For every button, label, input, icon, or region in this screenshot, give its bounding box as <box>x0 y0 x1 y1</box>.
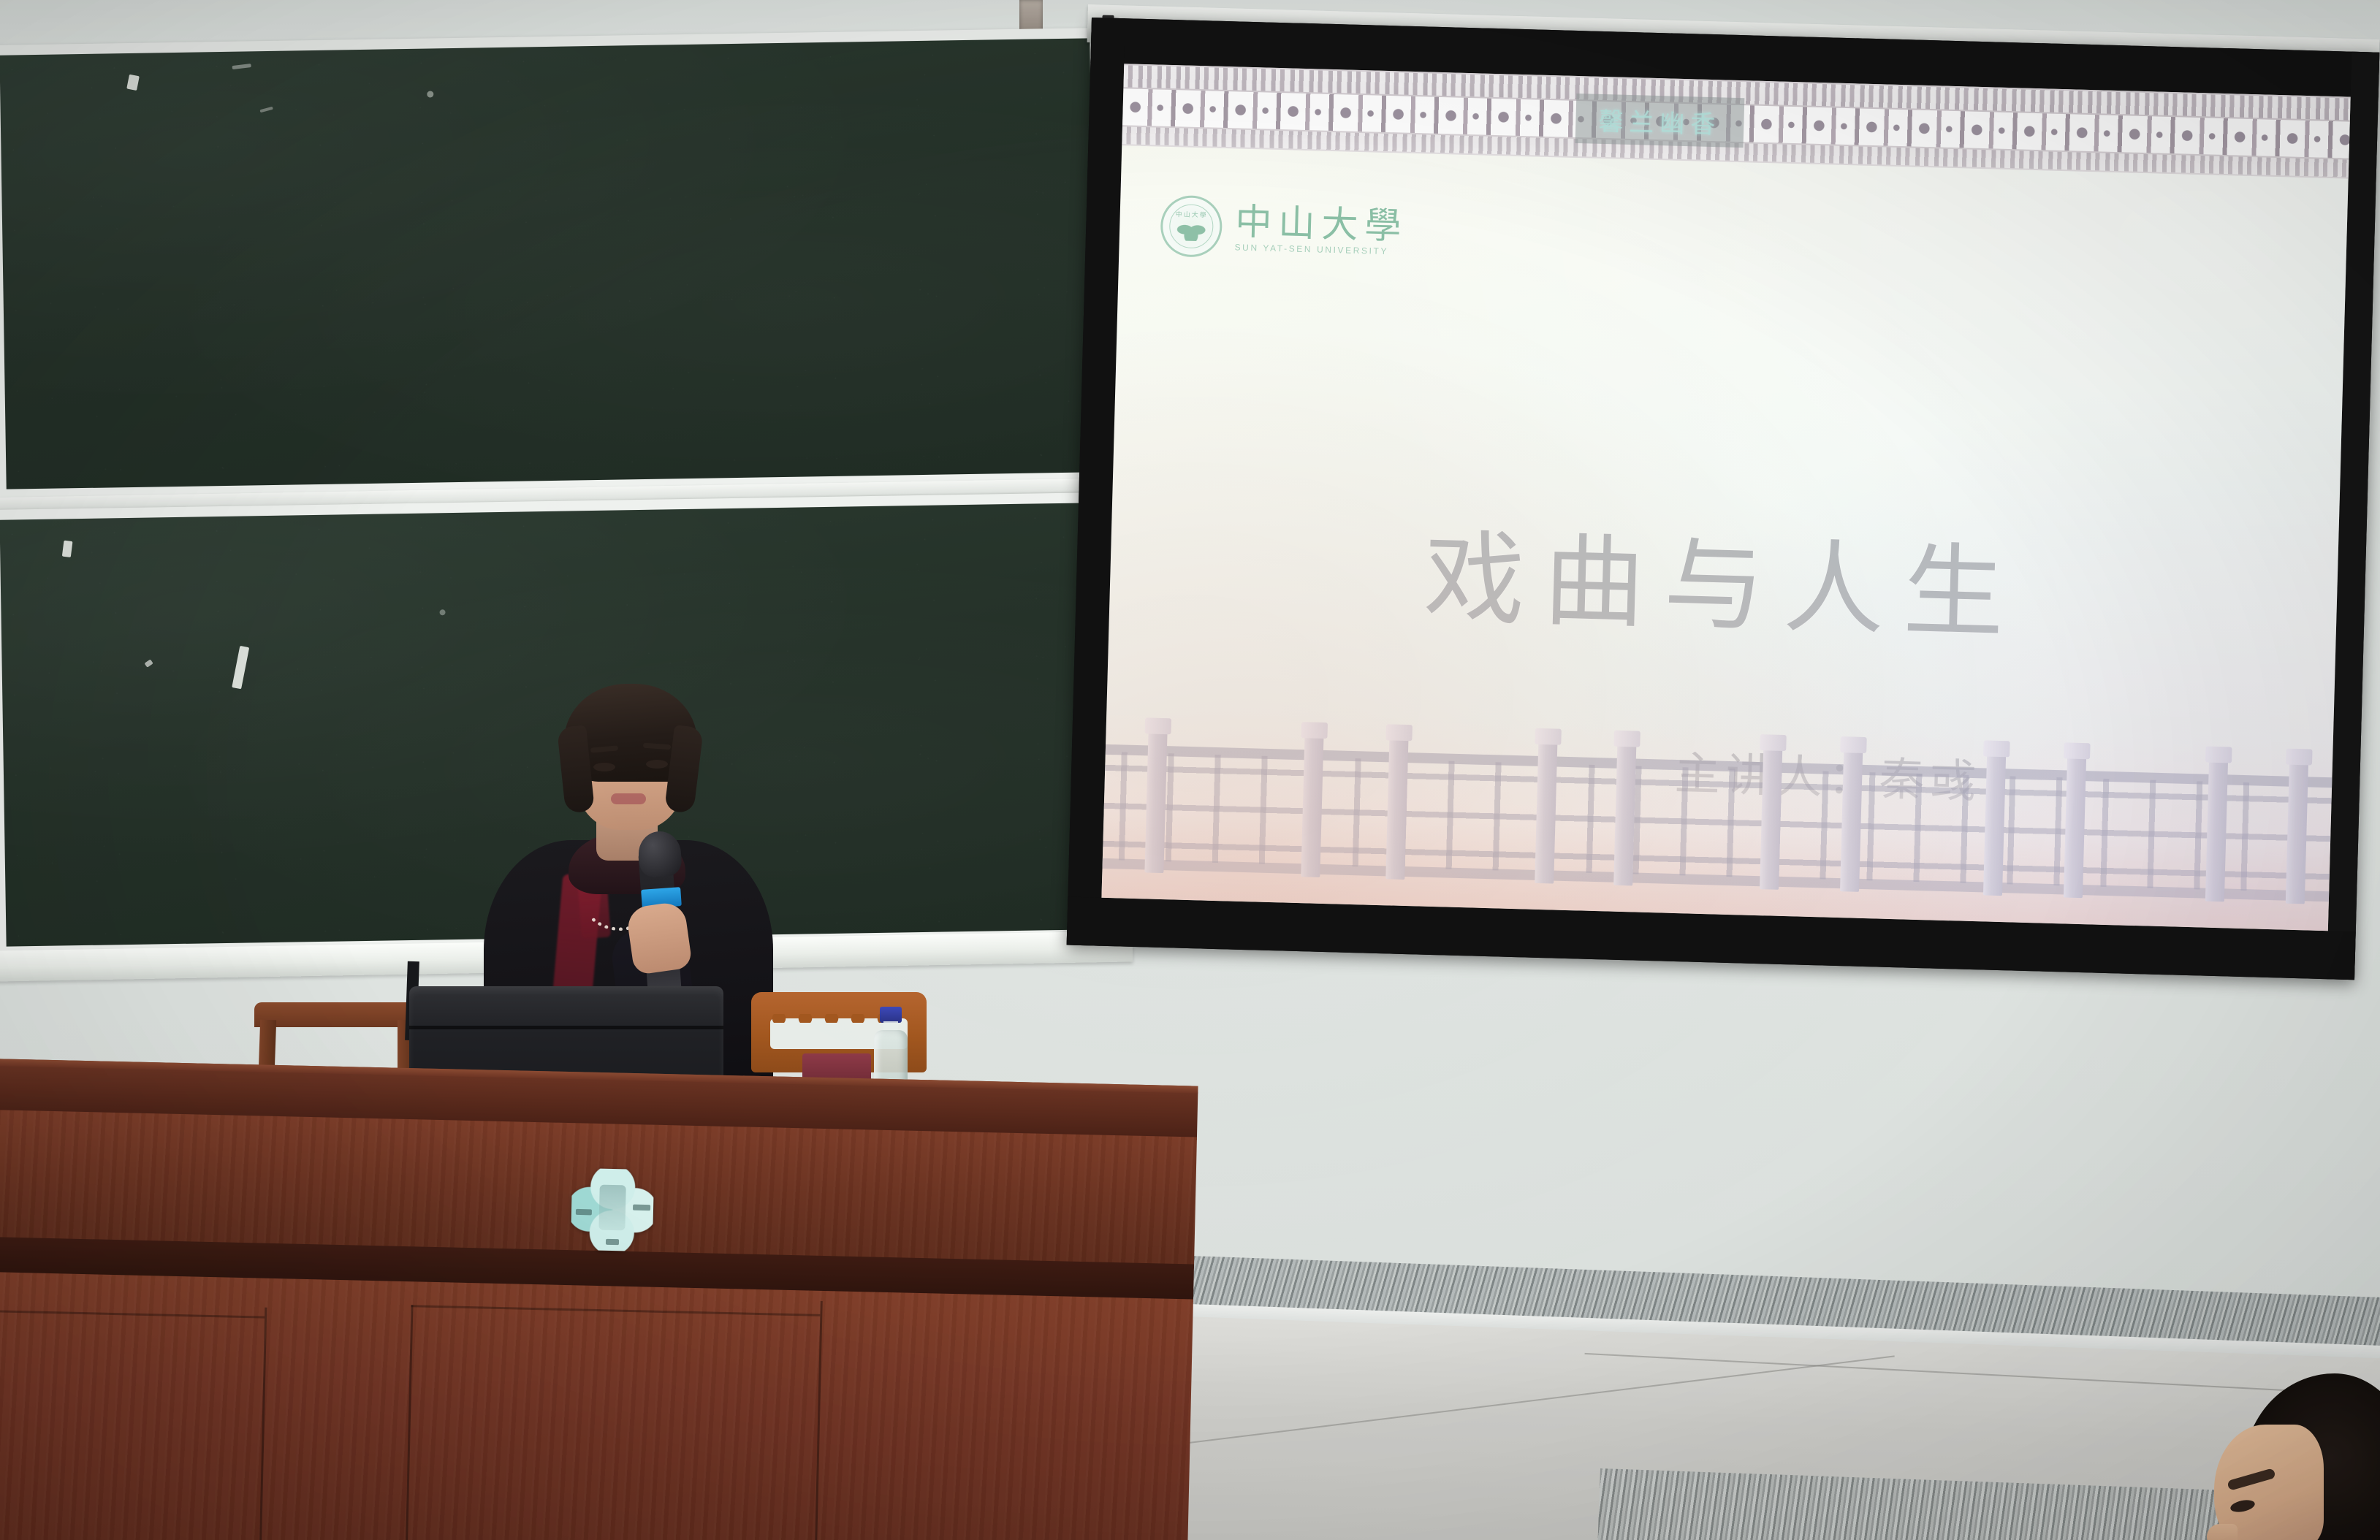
chalkboard-surface-upper <box>0 38 1097 489</box>
balustrade-post <box>1301 733 1323 877</box>
balustrade-post <box>1385 736 1408 880</box>
balustrade-post <box>2064 754 2086 898</box>
balustrade-post <box>1760 746 1782 890</box>
chalk-residue <box>427 91 433 97</box>
slide-title: 戏曲与人生 <box>1109 487 2339 666</box>
balustrade-post <box>1144 729 1167 873</box>
sysu-logo-chinese: 中山大學 <box>1235 203 1408 244</box>
emblem-inner-motif <box>598 1185 626 1231</box>
header-banner-text: 馨兰幽香 <box>1598 101 1722 140</box>
foreground-student-head <box>2186 1373 2380 1540</box>
emblem-bar <box>633 1205 650 1211</box>
lecture-hall-photo: 馨兰幽香 中山大學 中山大學 SUN YAT-SEN UNIVERSITY 戏曲… <box>0 0 2380 1540</box>
slide-footer-balustrade <box>1101 708 2333 931</box>
balustrade-post <box>1613 742 1636 886</box>
bottle-cap <box>880 1007 902 1023</box>
balustrade-post <box>1535 740 1557 884</box>
chalkboard-upper-panel <box>0 28 1107 500</box>
podium-wood-grain <box>0 1271 1193 1540</box>
chair-seam <box>409 1026 723 1029</box>
chalk-residue <box>440 609 446 615</box>
sysu-logo: 中山大學 中山大學 SUN YAT-SEN UNIVERSITY <box>1160 195 1408 263</box>
projection-screen: 馨兰幽香 中山大學 中山大學 SUN YAT-SEN UNIVERSITY 戏曲… <box>1067 18 2380 980</box>
balustrade-post <box>2286 761 2308 904</box>
sysu-logo-text: 中山大學 SUN YAT-SEN UNIVERSITY <box>1234 203 1408 256</box>
emblem-bar <box>576 1209 592 1215</box>
projected-slide: 馨兰幽香 中山大學 中山大學 SUN YAT-SEN UNIVERSITY 戏曲… <box>1101 64 2350 931</box>
balustrade-post <box>1840 748 1863 892</box>
sysu-seal-emblem-glyph <box>1175 216 1208 241</box>
lecturer-mouth <box>611 793 646 804</box>
lecturer-eye <box>593 763 615 771</box>
wooden-podium[interactable] <box>0 1058 1242 1540</box>
header-title-plate: 馨兰幽香 <box>1575 94 1745 148</box>
balustrade-post <box>1983 752 2006 896</box>
podium-quatrefoil-emblem <box>571 1168 655 1252</box>
balustrade-post <box>2205 758 2228 902</box>
podium-lower-cabinet <box>0 1271 1193 1540</box>
emblem-bar <box>606 1239 619 1245</box>
lecturer-eye <box>646 760 668 769</box>
student-nose <box>2207 1524 2238 1540</box>
sysu-seal-icon: 中山大學 <box>1160 195 1223 258</box>
floor-tile-seam <box>1184 1355 1895 1444</box>
